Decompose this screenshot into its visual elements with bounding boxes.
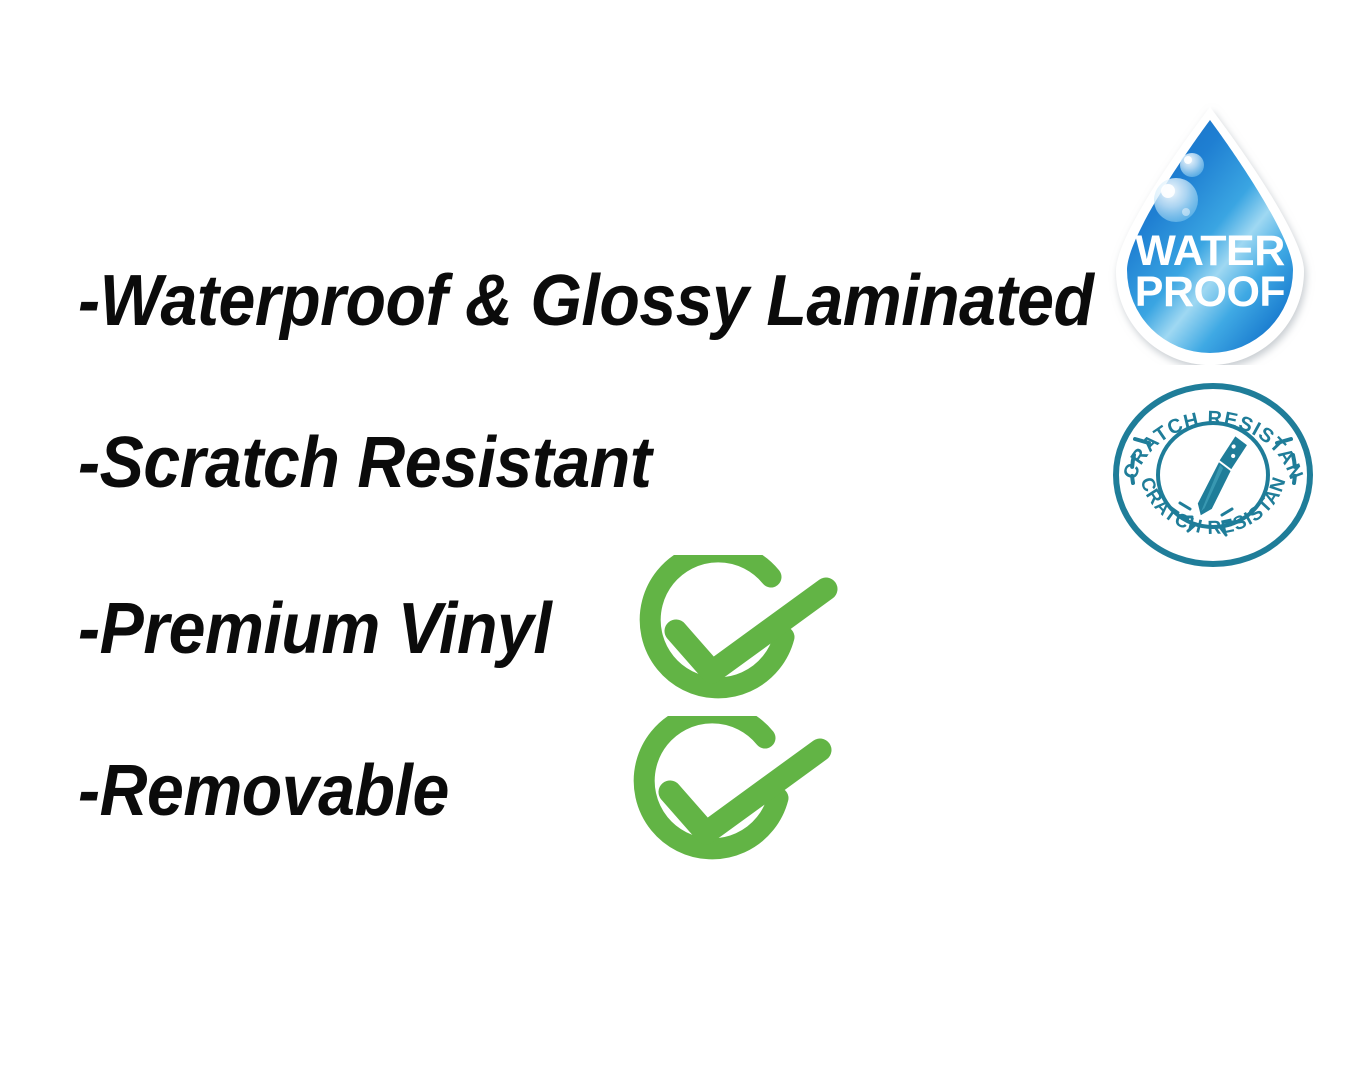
check-circle-icon (638, 555, 838, 715)
check-circle-icon (632, 716, 832, 876)
waterproof-line2: PROOF (1135, 268, 1285, 316)
waterproof-badge: WATER PROOF (1102, 103, 1318, 365)
feature-graphic-canvas: -Waterproof & Glossy Laminated -Scratch … (0, 0, 1359, 1080)
feature-label: -Waterproof & Glossy Laminated (78, 262, 1094, 340)
feature-item-removable: -Removable (78, 752, 481, 830)
scratch-resistant-badge: SCRATCH RESISTANT SCRATCH RESISTANT (1112, 383, 1314, 567)
seal-top-arc-text: SCRATCH RESISTANT (1112, 383, 1307, 483)
knife-icon (1194, 432, 1248, 521)
feature-label: -Premium Vinyl (78, 590, 551, 668)
feature-item-premium-vinyl: -Premium Vinyl (78, 590, 592, 668)
feature-item-scratch-resistant: -Scratch Resistant (78, 424, 701, 502)
feature-label: -Scratch Resistant (78, 424, 651, 502)
feature-item-waterproof: -Waterproof & Glossy Laminated (78, 262, 1182, 340)
feature-label: -Removable (78, 752, 449, 830)
